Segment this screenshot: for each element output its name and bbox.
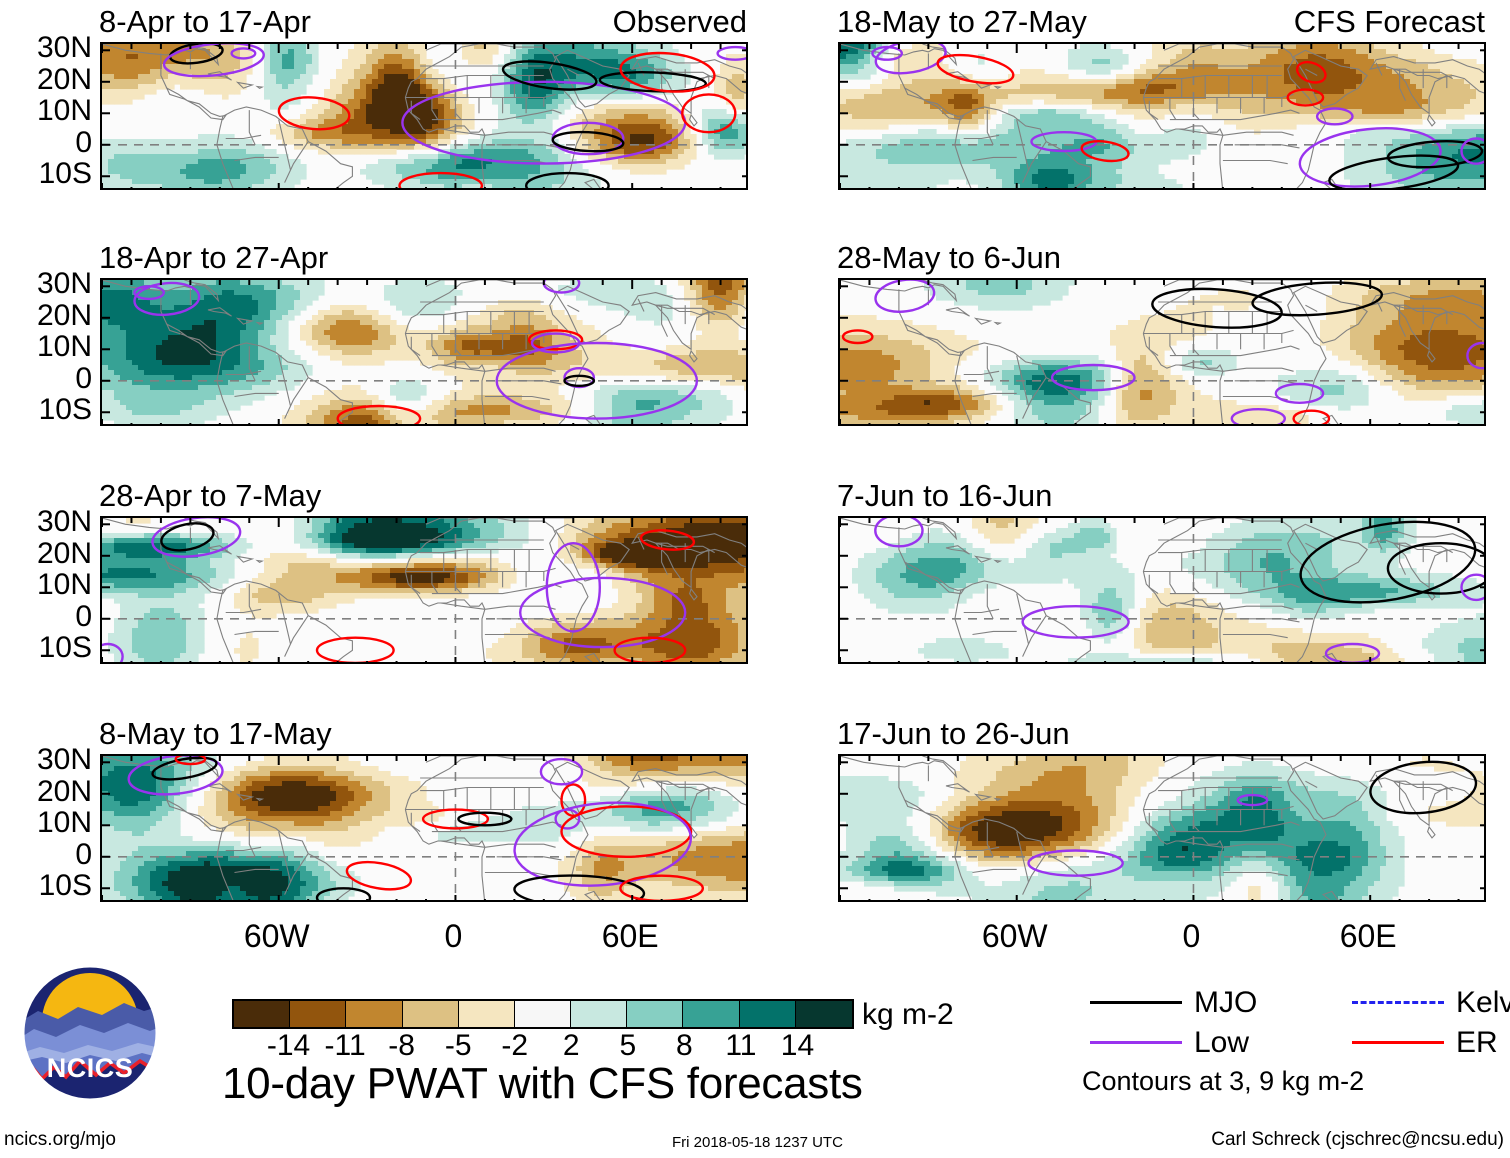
- footer-timestamp: Fri 2018-05-18 1237 UTC: [672, 1133, 843, 1152]
- colorbar-unit-label: kg m-2: [862, 1000, 954, 1030]
- colorbar-tick-label: 8: [654, 1031, 714, 1061]
- y-axis-tick-label: 30N: [0, 745, 92, 775]
- y-axis-tick-label: 0: [0, 128, 92, 158]
- main-title: 10-day PWAT with CFS forecasts: [222, 1062, 863, 1106]
- colorbar-bin: [234, 1001, 290, 1027]
- map-panel: [838, 42, 1486, 190]
- colorbar-tick-label: -8: [372, 1031, 432, 1061]
- forecast-label: CFS Forecast: [1294, 6, 1485, 37]
- wave-contour-er: [317, 638, 394, 663]
- y-axis-tick-label: 0: [0, 364, 92, 394]
- colorbar-tick-label: -2: [485, 1031, 545, 1061]
- y-axis-tick-label: 30N: [0, 33, 92, 63]
- y-axis-tick-label: 20N: [0, 539, 92, 569]
- panel-title: 7-Jun to 16-Jun: [837, 480, 1052, 511]
- colorbar-bin: [571, 1001, 627, 1027]
- y-axis-tick-label: 10N: [0, 332, 92, 362]
- colorbar-tick-label: -14: [259, 1031, 319, 1061]
- y-axis-tick-label: 30N: [0, 507, 92, 537]
- panel-title: 8-May to 17-May: [99, 718, 332, 749]
- panel-title: 28-May to 6-Jun: [837, 242, 1061, 273]
- y-axis-tick-label: 10S: [0, 871, 92, 901]
- colorbar-tick-label: 11: [711, 1031, 771, 1061]
- colorbar-bin: [740, 1001, 796, 1027]
- y-axis-tick-label: 30N: [0, 269, 92, 299]
- colorbar-bin: [403, 1001, 459, 1027]
- contour-note: Contours at 3, 9 kg m-2: [1082, 1068, 1364, 1095]
- colorbar-bin: [459, 1001, 515, 1027]
- y-axis-tick-label: 0: [0, 602, 92, 632]
- colorbar-tick-label: 2: [541, 1031, 601, 1061]
- legend-label: MJO: [1194, 988, 1257, 1018]
- footer-url[interactable]: ncics.org/mjo: [4, 1130, 116, 1149]
- observed-label: Observed: [613, 6, 747, 37]
- colorbar-bin: [627, 1001, 683, 1027]
- x-axis-tick-label: 0: [1183, 920, 1201, 952]
- colorbar-tick-label: -5: [428, 1031, 488, 1061]
- legend-line-mjo: [1090, 1001, 1182, 1004]
- y-axis-tick-label: 0: [0, 840, 92, 870]
- y-axis-tick-label: 10S: [0, 159, 92, 189]
- map-panel: [838, 516, 1486, 664]
- y-axis-tick-label: 10N: [0, 570, 92, 600]
- colorbar-bin: [346, 1001, 402, 1027]
- legend-line-er: [1352, 1041, 1444, 1044]
- colorbar-bin: [290, 1001, 346, 1027]
- panel-title: 18-Apr to 27-Apr: [99, 242, 328, 273]
- y-axis-tick-label: 10S: [0, 395, 92, 425]
- colorbar: [232, 999, 854, 1029]
- colorbar-bin: [683, 1001, 739, 1027]
- y-axis-tick-label: 10N: [0, 96, 92, 126]
- footer-author: Carl Schreck (cjschrec@ncsu.edu): [1211, 1130, 1504, 1149]
- y-axis-tick-label: 20N: [0, 301, 92, 331]
- map-panel: [100, 42, 748, 190]
- x-axis-tick-label: 60W: [982, 920, 1048, 952]
- logo-label: NCICS: [20, 1055, 160, 1082]
- map-panel: [100, 754, 748, 902]
- y-axis-tick-label: 10N: [0, 808, 92, 838]
- legend-label: ER: [1456, 1028, 1498, 1058]
- panel-title: 18-May to 27-May: [837, 6, 1087, 37]
- panel-title: 28-Apr to 7-May: [99, 480, 321, 511]
- colorbar-bin: [796, 1001, 852, 1027]
- legend-label: Low: [1194, 1028, 1249, 1058]
- colorbar-tick-label: 14: [767, 1031, 827, 1061]
- colorbar-tick-label: 5: [598, 1031, 658, 1061]
- x-axis-tick-label: 0: [445, 920, 463, 952]
- x-axis-tick-label: 60W: [244, 920, 310, 952]
- x-axis-tick-label: 60E: [1340, 920, 1397, 952]
- panel-title: 17-Jun to 26-Jun: [837, 718, 1070, 749]
- map-panel: [838, 754, 1486, 902]
- map-panel: [100, 516, 748, 664]
- y-axis-tick-label: 20N: [0, 777, 92, 807]
- map-panel: [100, 278, 748, 426]
- y-axis-tick-label: 10S: [0, 633, 92, 663]
- map-panel: [838, 278, 1486, 426]
- colorbar-tick-label: -11: [315, 1031, 375, 1061]
- legend-line-kelvin-x2: [1352, 1001, 1444, 1004]
- x-axis-tick-label: 60E: [602, 920, 659, 952]
- legend-line-low: [1090, 1041, 1182, 1044]
- y-axis-tick-label: 20N: [0, 65, 92, 95]
- wave-contour-low: [541, 759, 582, 784]
- colorbar-bin: [515, 1001, 571, 1027]
- legend-label: Kelvin x2: [1456, 988, 1510, 1018]
- panel-title: 8-Apr to 17-Apr: [99, 6, 311, 37]
